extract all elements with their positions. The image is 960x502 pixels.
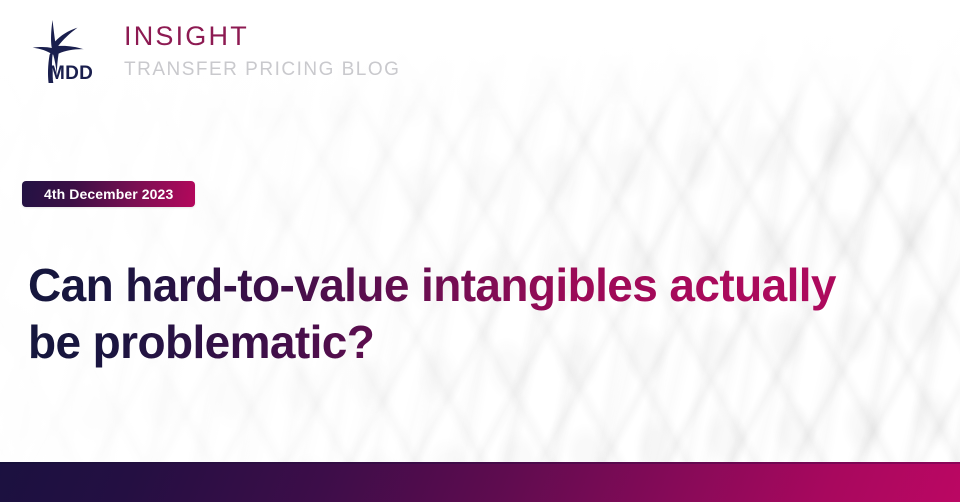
headline-line-2: be problematic? [28,314,908,371]
mddp-wordmark: MDDP [49,63,94,84]
bottom-gradient-bar [0,462,960,502]
brand-title: INSIGHT [124,23,400,50]
mddp-logo-icon[interactable]: MDDP [22,18,94,84]
blog-header-banner: MDDP INSIGHT TRANSFER PRICING BLOG 4th D… [0,0,960,502]
brand-header[interactable]: MDDP INSIGHT TRANSFER PRICING BLOG [22,18,400,84]
brand-text-block: INSIGHT TRANSFER PRICING BLOG [124,18,400,79]
publish-date-badge: 4th December 2023 [22,181,195,207]
bottom-bar-top-edge [0,462,960,464]
article-headline: Can hard-to-value intangibles actually b… [28,257,908,371]
headline-line-1: Can hard-to-value intangibles actually [28,257,908,314]
brand-subtitle: TRANSFER PRICING BLOG [124,60,400,79]
